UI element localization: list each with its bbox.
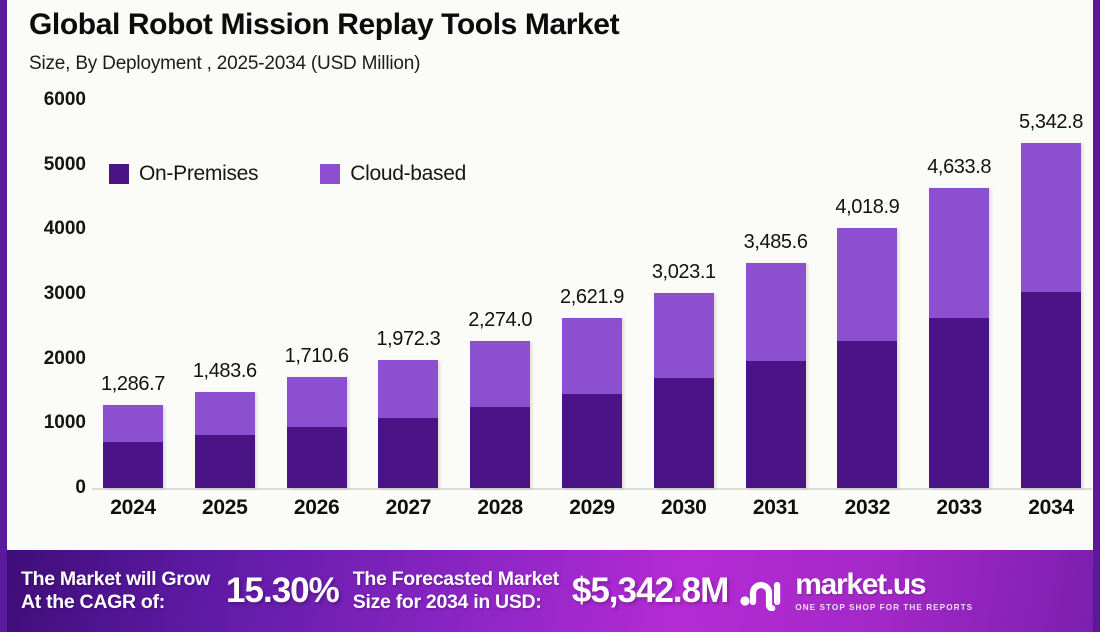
bar-series-container: 1,286.71,483.61,710.61,972.32,274.02,621… (92, 100, 1092, 488)
bar-stack[interactable]: 3,485.6 (746, 263, 806, 488)
x-axis-tick: 2024 (92, 496, 174, 520)
bar-stack[interactable]: 4,018.9 (837, 228, 897, 488)
x-axis-tick: 2028 (459, 496, 541, 520)
bar-group[interactable]: 3,485.6 (735, 100, 817, 488)
y-axis-tick: 5000 (44, 154, 86, 176)
bar-segment-cloud-based[interactable] (562, 318, 622, 394)
y-axis-tick: 2000 (44, 348, 86, 370)
chart-legend: On-PremisesCloud-based (109, 162, 466, 186)
bar-segment-cloud-based[interactable] (746, 263, 806, 361)
y-axis-tick: 0 (75, 477, 86, 499)
bar-group[interactable]: 1,710.6 (276, 100, 358, 488)
bar-segment-cloud-based[interactable] (103, 405, 163, 442)
bar-segment-cloud-based[interactable] (470, 341, 530, 407)
cagr-label-line2: At the CAGR of: (21, 591, 210, 614)
bar-stack[interactable]: 1,286.7 (103, 405, 163, 488)
forecast-value: $5,342.8M (572, 571, 728, 611)
bar-segment-on-premises[interactable] (837, 341, 897, 488)
footer-banner: The Market will Grow At the CAGR of: 15.… (7, 550, 1093, 632)
bar-group[interactable]: 4,018.9 (826, 100, 908, 488)
bar-value-label: 1,972.3 (376, 328, 440, 351)
bar-segment-cloud-based[interactable] (654, 293, 714, 379)
brand-name: market.us (795, 570, 973, 600)
bar-segment-on-premises[interactable] (378, 418, 438, 488)
bar-segment-cloud-based[interactable] (287, 377, 347, 427)
bar-stack[interactable]: 3,023.1 (654, 293, 714, 488)
y-axis-tick: 1000 (44, 412, 86, 434)
bar-segment-on-premises[interactable] (195, 435, 255, 488)
bar-segment-cloud-based[interactable] (195, 392, 255, 435)
bar-value-label: 4,018.9 (835, 196, 899, 219)
bar-stack[interactable]: 1,710.6 (287, 377, 347, 488)
bar-segment-on-premises[interactable] (746, 361, 806, 488)
bar-segment-on-premises[interactable] (654, 378, 714, 488)
bar-value-label: 1,286.7 (101, 373, 165, 396)
bar-segment-on-premises[interactable] (562, 394, 622, 488)
bar-group[interactable]: 2,621.9 (551, 100, 633, 488)
legend-item-2[interactable]: Cloud-based (320, 162, 466, 186)
forecast-label-line1: The Forecasted Market (353, 568, 559, 591)
bar-segment-on-premises[interactable] (929, 318, 989, 488)
y-axis-tick: 6000 (44, 89, 86, 111)
chart-header: Global Robot Mission Replay Tools Market… (29, 8, 619, 75)
bar-stack[interactable]: 5,342.8 (1021, 143, 1081, 489)
brand-text: market.us ONE STOP SHOP FOR THE REPORTS (795, 570, 973, 612)
legend-swatch-icon (320, 164, 340, 184)
bar-segment-on-premises[interactable] (287, 427, 347, 488)
market-us-logo-icon (738, 571, 786, 611)
forecast-label-line2: Size for 2034 in USD: (353, 591, 559, 614)
bar-group[interactable]: 1,483.6 (184, 100, 266, 488)
chart-plot-area: 0100020003000400050006000 On-PremisesClo… (14, 100, 1100, 545)
x-axis-tick: 2026 (276, 496, 358, 520)
bar-group[interactable]: 1,286.7 (92, 100, 174, 488)
infographic-canvas: Global Robot Mission Replay Tools Market… (0, 0, 1100, 632)
bar-group[interactable]: 1,972.3 (367, 100, 449, 488)
brand-tagline: ONE STOP SHOP FOR THE REPORTS (795, 603, 973, 612)
bar-stack[interactable]: 4,633.8 (929, 188, 989, 488)
legend-label: Cloud-based (350, 162, 466, 186)
bar-group[interactable]: 5,342.8 (1010, 100, 1092, 488)
bar-segment-on-premises[interactable] (470, 407, 530, 488)
bar-stack[interactable]: 1,483.6 (195, 392, 255, 488)
bar-stack[interactable]: 2,274.0 (470, 341, 530, 488)
bar-group[interactable]: 3,023.1 (643, 100, 725, 488)
bar-value-label: 1,710.6 (285, 345, 349, 368)
bar-value-label: 3,023.1 (652, 261, 716, 284)
y-axis-tick: 4000 (44, 218, 86, 240)
bar-segment-cloud-based[interactable] (837, 228, 897, 341)
bar-segment-on-premises[interactable] (1021, 292, 1081, 488)
page-subtitle: Size, By Deployment , 2025-2034 (USD Mil… (29, 53, 619, 75)
forecast-label: The Forecasted Market Size for 2034 in U… (353, 568, 559, 614)
bar-group[interactable]: 4,633.8 (918, 100, 1000, 488)
cagr-label: The Market will Grow At the CAGR of: (21, 568, 210, 614)
bar-segment-cloud-based[interactable] (929, 188, 989, 318)
x-axis-tick: 2027 (367, 496, 449, 520)
y-axis-tick: 3000 (44, 283, 86, 305)
bar-segment-on-premises[interactable] (103, 442, 163, 488)
legend-swatch-icon (109, 164, 129, 184)
x-axis-baseline (92, 488, 1092, 490)
x-axis-tick: 2025 (184, 496, 266, 520)
x-axis-tick: 2031 (735, 496, 817, 520)
x-axis: 2024202520262027202820292030203120322033… (92, 496, 1092, 520)
bar-value-label: 5,342.8 (1019, 111, 1083, 134)
x-axis-tick: 2030 (643, 496, 725, 520)
bar-value-label: 2,621.9 (560, 286, 624, 309)
bar-group[interactable]: 2,274.0 (459, 100, 541, 488)
y-axis: 0100020003000400050006000 (14, 100, 92, 488)
bar-value-label: 1,483.6 (193, 360, 257, 383)
bar-value-label: 2,274.0 (468, 309, 532, 332)
x-axis-tick: 2032 (826, 496, 908, 520)
cagr-value: 15.30% (226, 571, 339, 611)
x-axis-tick: 2034 (1010, 496, 1092, 520)
bar-stack[interactable]: 1,972.3 (378, 360, 438, 488)
legend-label: On-Premises (139, 162, 258, 186)
bar-segment-cloud-based[interactable] (1021, 143, 1081, 293)
cagr-label-line1: The Market will Grow (21, 568, 210, 591)
x-axis-tick: 2033 (918, 496, 1000, 520)
page-title: Global Robot Mission Replay Tools Market (29, 8, 619, 42)
bar-segment-cloud-based[interactable] (378, 360, 438, 417)
bar-stack[interactable]: 2,621.9 (562, 318, 622, 488)
brand-logo[interactable]: market.us ONE STOP SHOP FOR THE REPORTS (738, 570, 973, 612)
bar-value-label: 3,485.6 (744, 231, 808, 254)
x-axis-tick: 2029 (551, 496, 633, 520)
legend-item-1[interactable]: On-Premises (109, 162, 258, 186)
bar-value-label: 4,633.8 (927, 156, 991, 179)
